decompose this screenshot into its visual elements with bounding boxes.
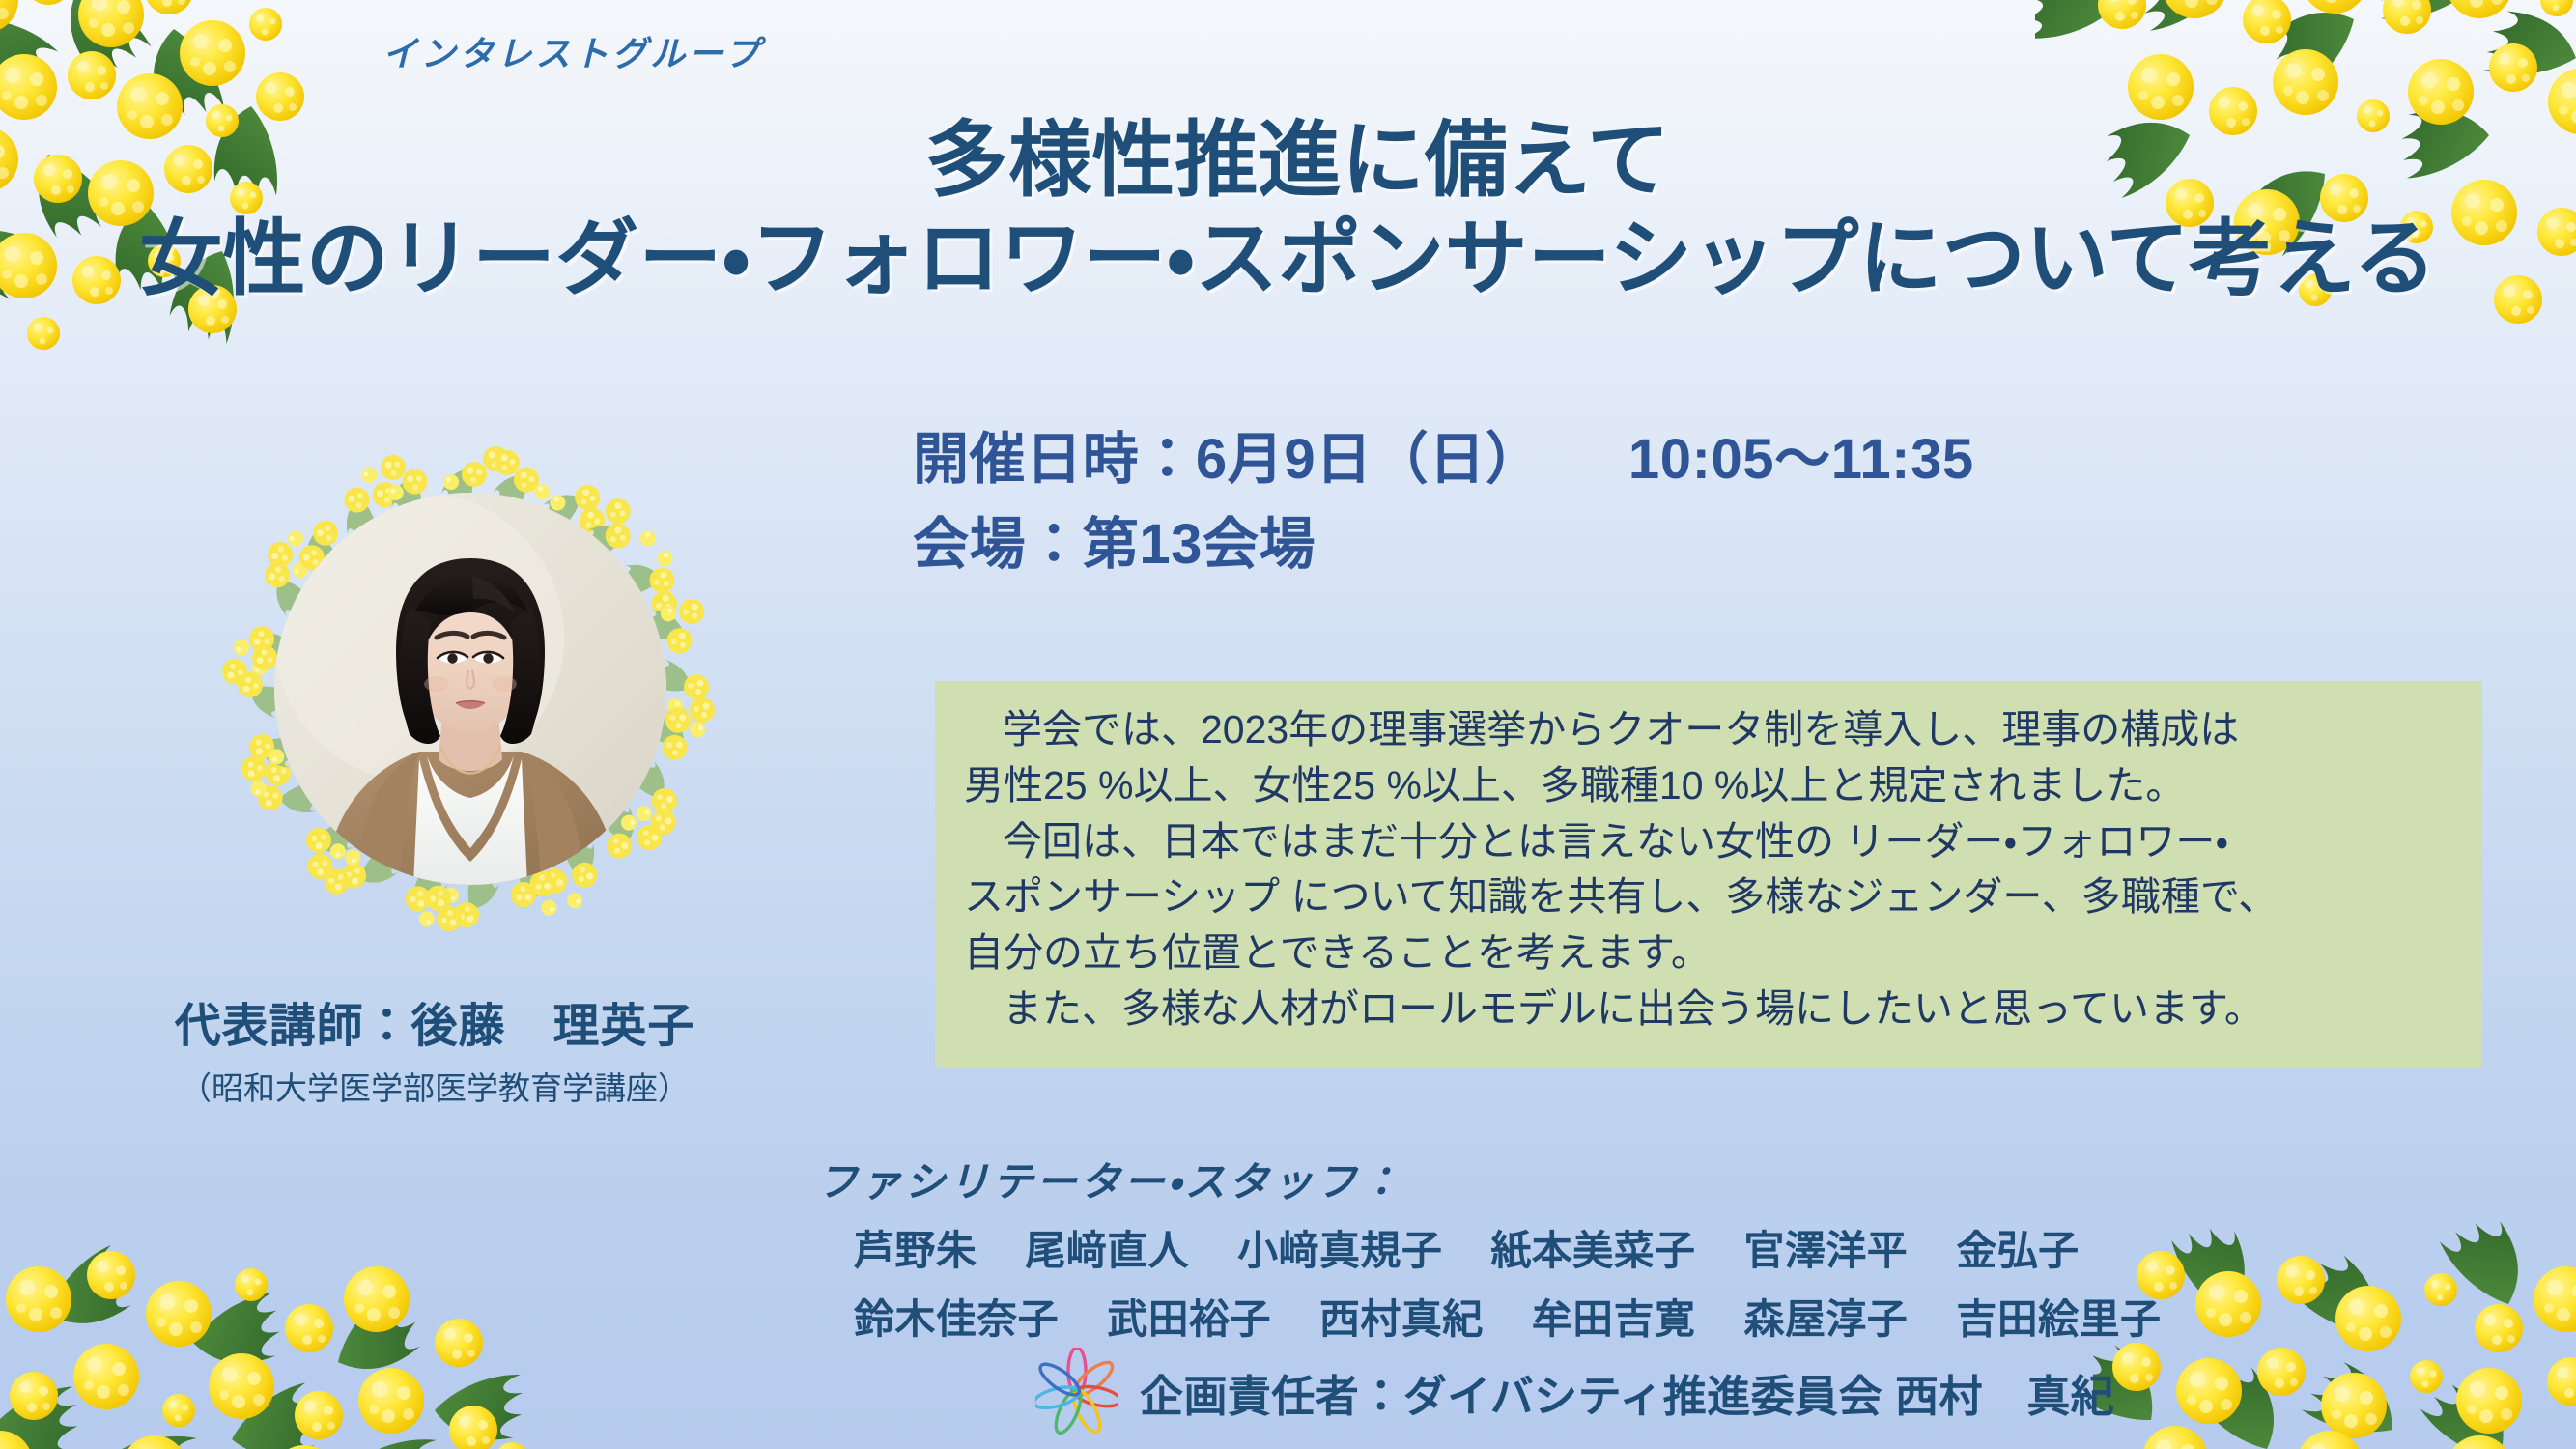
facilitators-block: ファシリテーター・スタッフ： 芦野朱 尾﨑直人 小﨑真規子 紙本美菜子 官澤洋平…: [817, 1150, 2161, 1346]
schedule-datetime-row: 開催日時：6月9日（日） 10:05〜11:35: [913, 417, 1974, 502]
schedule-block: 開催日時：6月9日（日） 10:05〜11:35 会場：第13会場: [913, 417, 1974, 587]
facilitator-name: 森屋淳子: [1744, 1287, 1909, 1346]
facilitators-row-1: 芦野朱 尾﨑直人 小﨑真規子 紙本美菜子 官澤洋平 金弘子: [817, 1218, 2161, 1277]
title-line-2: 女性のリーダー・フォロワー・スポンサーシップについて考える: [0, 213, 2576, 305]
avatar: [274, 493, 666, 885]
facilitator-name: 吉田絵里子: [1956, 1287, 2161, 1346]
lecturer-info: 代表講師：後藤 理英子 （昭和大学医学部医学教育学講座）: [0, 987, 869, 1109]
description-line: スポンサーシップ について知識を共有し、多様なジェンダー、多職種で、: [964, 869, 2457, 925]
description-line-text: 今回は、日本ではまだ十分とは言えない女性の リーダー・フォロワー・: [1003, 819, 2228, 864]
mimosa-decoration-bottom-left: [0, 1121, 531, 1449]
facilitator-name: 小﨑真規子: [1237, 1218, 1442, 1277]
facilitator-name: 牟田吉寛: [1532, 1287, 1696, 1346]
description-panel: 学会では、2023年の理事選挙からクオータ制を導入し、理事の構成は 男性25 %…: [935, 681, 2482, 1067]
description-line-text: スポンサーシップ について知識を共有し、多様なジェンダー、多職種で、: [964, 874, 2278, 919]
facilitators-heading: ファシリテーター・スタッフ：: [817, 1150, 2161, 1208]
facilitator-name: 尾﨑直人: [1025, 1218, 1189, 1277]
lecturer-affiliation: （昭和大学医学部医学教育学講座）: [0, 1063, 869, 1109]
facilitator-name: 鈴木佳奈子: [854, 1287, 1059, 1346]
description-line: また、多様な人材がロールモデルに出会う場にしたいと思っています。: [964, 981, 2457, 1037]
description-line-text: 男性25 %以上、女性25 %以上、多職種10 %以上と規定されました。: [964, 763, 2185, 808]
lecturer-portrait: [214, 433, 726, 945]
facilitator-name: 西村真紀: [1319, 1287, 1484, 1346]
facilitator-name: 官澤洋平: [1744, 1218, 1909, 1277]
facilitator-name: 武田裕子: [1107, 1287, 1271, 1346]
description-line-text: また、多様な人材がロールモデルに出会う場にしたいと思っています。: [1003, 986, 2264, 1031]
description-line-text: 自分の立ち位置とできることを考えます。: [964, 930, 1711, 975]
description-line-text: 学会では、2023年の理事選挙からクオータ制を導入し、理事の構成は: [1003, 707, 2239, 752]
diversity-flower-logo-icon: [1035, 1348, 1118, 1436]
facilitators-row-2: 鈴木佳奈子 武田裕子 西村真紀 牟田吉寛 森屋淳子 吉田絵里子: [817, 1287, 2161, 1346]
facilitator-name: 紙本美菜子: [1490, 1218, 1695, 1277]
facilitator-name: 芦野朱: [854, 1218, 977, 1277]
footer-block: 企画責任者：ダイバシティ推進委員会 西村 真紀: [1035, 1348, 2114, 1436]
description-line: 男性25 %以上、女性25 %以上、多職種10 %以上と規定されました。: [964, 758, 2457, 814]
schedule-date-label: 開催日時：6月9日（日）: [913, 428, 1542, 491]
poster-root: インタレストグループ 多様性推進に備えて 女性のリーダー・フォロワー・スポンサー…: [0, 0, 2576, 1449]
portrait-photo-illustration: [274, 493, 666, 885]
schedule-venue: 会場：第13会場: [913, 502, 1974, 587]
description-line: 今回は、日本ではまだ十分とは言えない女性の リーダー・フォロワー・: [964, 814, 2457, 870]
interest-group-kicker: インタレストグループ: [382, 26, 763, 76]
mimosa-decoration-bottom-right: [2093, 1130, 2576, 1449]
lecturer-name: 代表講師：後藤 理英子: [0, 987, 869, 1055]
description-line: 自分の立ち位置とできることを考えます。: [964, 925, 2457, 981]
description-line: 学会では、2023年の理事選挙からクオータ制を導入し、理事の構成は: [964, 702, 2457, 758]
title-line-1: 多様性推進に備えて: [0, 114, 2576, 207]
facilitator-name: 金弘子: [1956, 1218, 2079, 1277]
footer-organizer-text: 企画責任者：ダイバシティ推進委員会 西村 真紀: [1140, 1361, 2114, 1424]
page-title: 多様性推進に備えて 女性のリーダー・フォロワー・スポンサーシップについて考える: [0, 114, 2576, 306]
schedule-time: 10:05〜11:35: [1628, 428, 1974, 491]
